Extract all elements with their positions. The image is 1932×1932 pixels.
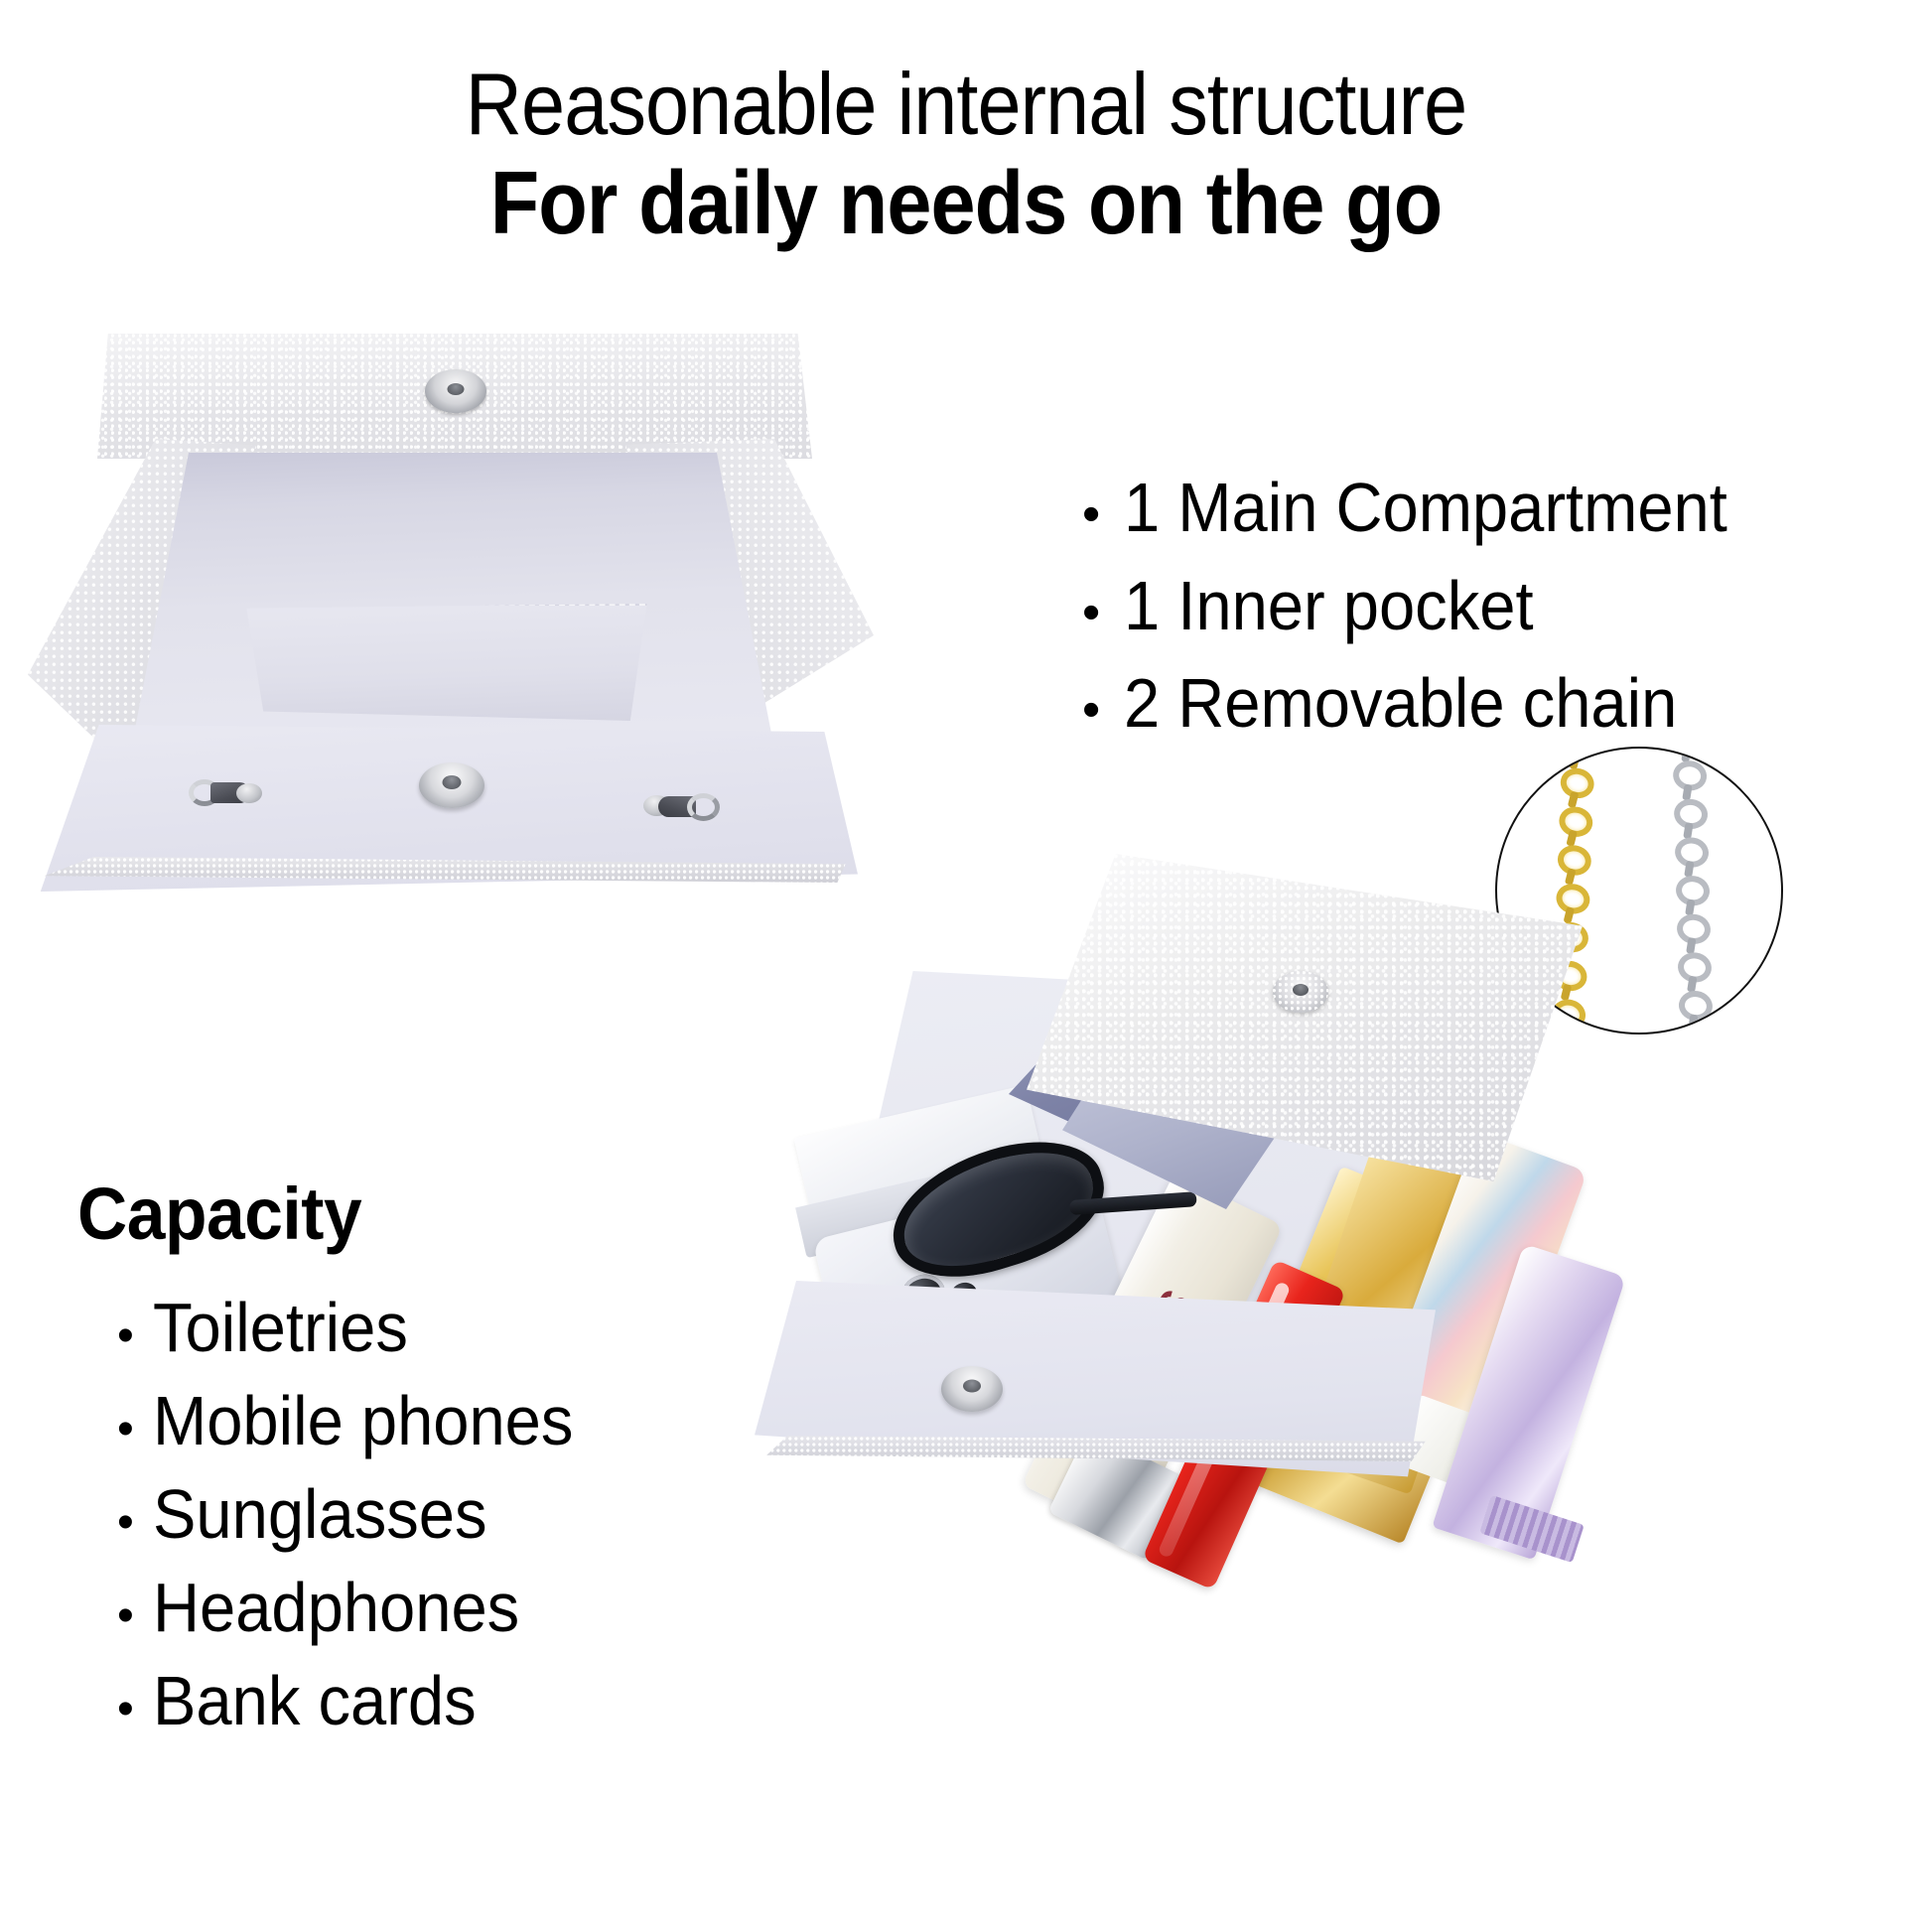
capacity-item-label: Headphones: [153, 1566, 519, 1649]
capacity-item-bank-cards: • Bank cards: [117, 1659, 832, 1742]
magnetic-snap: [941, 1366, 1003, 1412]
feature-list: • 1 Main Compartment • 1 Inner pocket • …: [1082, 467, 1916, 760]
capacity-item-toiletries: • Toiletries: [117, 1286, 832, 1369]
open-clutch-interior-photo: [10, 328, 884, 903]
page-title-line-1: Reasonable internal structure: [96, 58, 1835, 150]
capacity-item-label: Sunglasses: [153, 1472, 487, 1556]
chain-d-ring-right: [643, 790, 727, 824]
chain-d-ring-left: [189, 776, 266, 810]
feature-item-label: 1 Main Compartment: [1124, 467, 1727, 549]
bullet-icon: •: [1082, 587, 1124, 638]
capacity-block: Capacity • Toiletries • Mobile phones • …: [77, 1172, 832, 1752]
bullet-icon: •: [117, 1686, 153, 1733]
capacity-item-label: Bank cards: [153, 1659, 477, 1742]
filled-clutch-photo: SK-II: [884, 854, 1926, 1916]
capacity-item-mobile-phones: • Mobile phones: [117, 1379, 832, 1462]
d-ring-icon: [687, 793, 720, 821]
feature-item-removable-chain: • 2 Removable chain: [1082, 662, 1916, 745]
magnetic-snap-base: [419, 762, 484, 808]
capacity-item-headphones: • Headphones: [117, 1566, 832, 1649]
magnetic-snap-flap: [1273, 971, 1328, 1013]
feature-item-inner-pocket: • 1 Inner pocket: [1082, 565, 1916, 647]
page-title-line-2: For daily needs on the go: [96, 156, 1835, 252]
feature-item-label: 2 Removable chain: [1124, 662, 1677, 745]
capacity-item-sunglasses: • Sunglasses: [117, 1472, 832, 1556]
title-block: Reasonable internal structure For daily …: [0, 58, 1932, 252]
capacity-item-label: Toiletries: [153, 1286, 408, 1369]
bullet-icon: •: [1082, 684, 1124, 736]
capacity-heading: Capacity: [77, 1172, 786, 1256]
feature-item-main-compartment: • 1 Main Compartment: [1082, 467, 1916, 549]
magnetic-snap-flap: [425, 369, 486, 413]
bullet-icon: •: [117, 1499, 153, 1547]
bullet-icon: •: [117, 1312, 153, 1360]
feature-item-label: 1 Inner pocket: [1124, 565, 1534, 647]
d-ring-stud: [236, 783, 262, 803]
capacity-item-label: Mobile phones: [153, 1379, 573, 1462]
capacity-list: • Toiletries • Mobile phones • Sunglasse…: [117, 1286, 832, 1742]
bullet-icon: •: [117, 1592, 153, 1640]
inner-pocket: [238, 604, 655, 721]
bullet-icon: •: [1082, 488, 1124, 540]
bullet-icon: •: [117, 1406, 153, 1453]
